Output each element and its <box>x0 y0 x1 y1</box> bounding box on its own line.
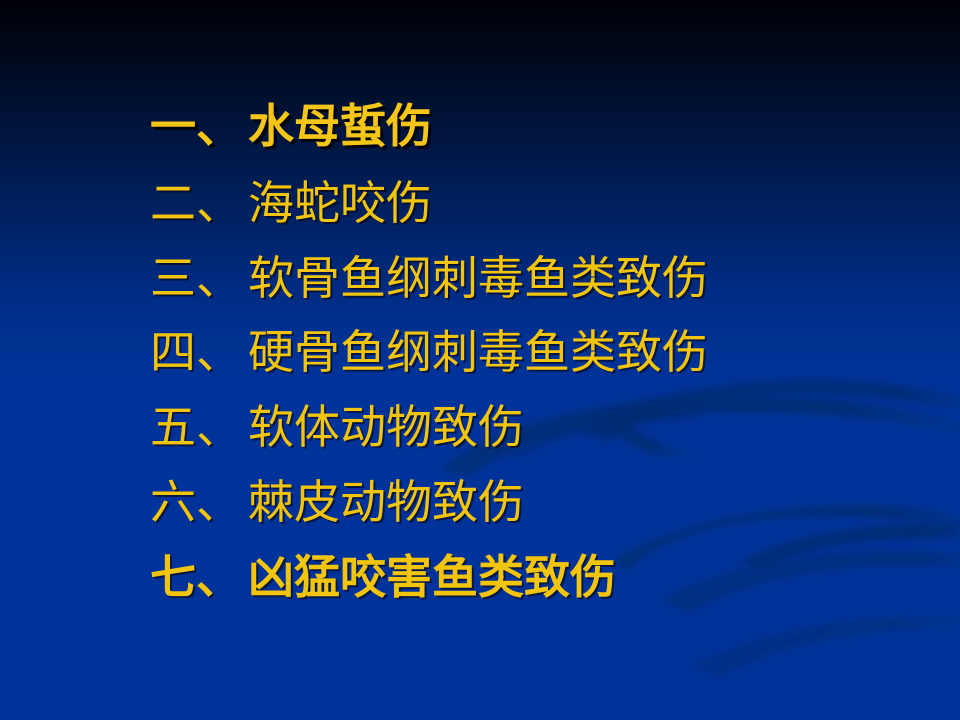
outline-item-6: 六、棘皮动物致伤 <box>150 479 524 525</box>
outline-item-5: 五、软体动物致伤 <box>150 404 524 450</box>
outline-item-5-number: 五、 <box>150 400 242 454</box>
outline-item-6-text: 棘皮动物致伤 <box>248 475 524 529</box>
outline-item-7: 七、凶猛咬害鱼类致伤 <box>150 554 616 600</box>
outline-item-3-number: 三、 <box>150 251 242 305</box>
outline-item-7-number: 七、 <box>150 550 242 604</box>
outline-item-2-number: 二、 <box>150 176 242 230</box>
outline-item-3: 三、软骨鱼纲刺毒鱼类致伤 <box>150 255 708 301</box>
outline-item-5-text: 软体动物致伤 <box>248 400 524 454</box>
outline-item-1: 一、水母蜇伤 <box>150 103 432 149</box>
presentation-slide: 一、水母蜇伤 二、海蛇咬伤 三、软骨鱼纲刺毒鱼类致伤 四、硬骨鱼纲刺毒鱼类致伤 … <box>0 0 960 720</box>
outline-item-3-text: 软骨鱼纲刺毒鱼类致伤 <box>248 251 708 305</box>
outline-item-4-number: 四、 <box>150 325 242 379</box>
outline-item-4-text: 硬骨鱼纲刺毒鱼类致伤 <box>248 325 708 379</box>
outline-item-2: 二、海蛇咬伤 <box>150 180 432 226</box>
outline-item-1-text: 水母蜇伤 <box>248 99 432 153</box>
outline-item-4: 四、硬骨鱼纲刺毒鱼类致伤 <box>150 329 708 375</box>
outline-item-1-number: 一、 <box>150 99 242 153</box>
outline-item-6-number: 六、 <box>150 475 242 529</box>
outline-item-7-text: 凶猛咬害鱼类致伤 <box>248 550 616 604</box>
slide-body: 一、水母蜇伤 二、海蛇咬伤 三、软骨鱼纲刺毒鱼类致伤 四、硬骨鱼纲刺毒鱼类致伤 … <box>0 0 960 720</box>
outline-item-2-text: 海蛇咬伤 <box>248 176 432 230</box>
